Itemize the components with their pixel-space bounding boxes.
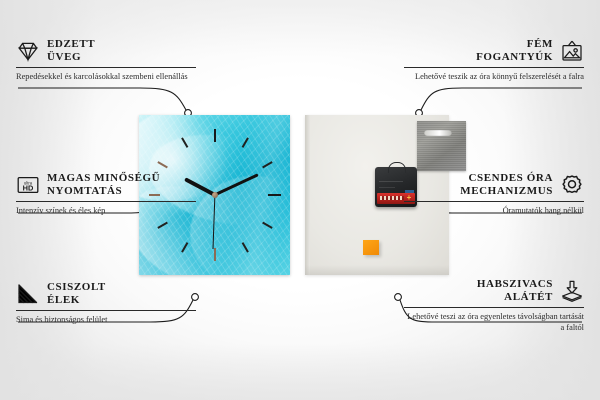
sanded-edges-icon [16,282,40,306]
ultra-hd-icon: ultra HD [16,173,40,197]
callout-description: Intenzív színek és éles kép [16,206,196,217]
callout-head: HABSZIVACS ALÁTÉT [404,278,584,303]
callout-divider [404,67,584,68]
callout-title-line1: EDZETT [47,38,95,51]
callout-title-line2: ÜVEG [47,51,95,64]
callout-title-line2: FOGANTYÚK [476,51,553,64]
callout-title-line1: CSENDES ÓRA [460,172,553,185]
foam-pad-icon [560,279,584,303]
callout-title-line2: MECHANIZMUS [460,185,553,198]
callout-title-line2: ÉLEK [47,294,106,307]
callout-title: HABSZIVACS ALÁTÉT [477,278,553,303]
mechanism-seam-2 [379,187,395,188]
callout-title: EDZETT ÜVEG [47,38,95,63]
callout-divider [16,201,196,202]
callout-divider [404,201,584,202]
callout-title-line1: FÉM [476,38,553,51]
svg-text:HD: HD [23,183,34,192]
clock-center-cap [212,192,218,198]
product-feature-infographic: + EDZETT ÜVEG Repedésekkel és karcolások… [0,0,600,400]
callout-description: Óramutatók hang nélkül [404,206,584,217]
callout-title: CSISZOLT ÉLEK [47,281,106,306]
callout-csiszolt-elek: CSISZOLT ÉLEK Sima és biztonságos felüle… [16,281,196,326]
mechanism-seam-1 [379,181,403,182]
callout-description: Repedésekkel és karcolásokkal szembeni e… [16,72,196,83]
foam-spacer-pad [363,240,379,255]
callout-divider [16,310,196,311]
callout-title-line2: ALÁTÉT [477,291,553,304]
clock-tick-12 [214,129,216,195]
callout-fem-fogantyuk: FÉM FOGANTYÚK Lehetővé teszik az óra kön… [404,38,584,83]
picture-hanger-icon [560,39,584,63]
callout-csendes-ora-mechanizmus: CSENDES ÓRA MECHANIZMUS Óramutatók hang … [404,172,584,217]
callout-habszivacs-alatet: HABSZIVACS ALÁTÉT Lehetővé teszi az óra … [404,278,584,333]
callout-magas-minosegu-nyomtatas: ultra HD MAGAS MINŐSÉGŰ NYOMTATÁS Intenz… [16,172,196,217]
leader-dot-habszivacs [395,294,402,301]
diamond-icon [16,39,40,63]
gear-icon [560,173,584,197]
callout-title-line1: HABSZIVACS [477,278,553,291]
callout-head: CSENDES ÓRA MECHANIZMUS [404,172,584,197]
leader-edzett [18,88,186,110]
callout-head: ultra HD MAGAS MINŐSÉGŰ NYOMTATÁS [16,172,196,197]
leader-fogantyuk [421,88,582,110]
callout-title-line2: NYOMTATÁS [47,185,160,198]
callout-edzett-uveg: EDZETT ÜVEG Repedésekkel és karcolásokka… [16,38,196,83]
hanger-texture [417,121,466,171]
callout-head: FÉM FOGANTYÚK [404,38,584,63]
metal-hanger-plate [417,121,466,171]
callout-title-line1: MAGAS MINŐSÉGŰ [47,172,160,185]
callout-description: Sima és biztonságos felület [16,315,196,326]
callout-head: CSISZOLT ÉLEK [16,281,196,306]
callout-title: FÉM FOGANTYÚK [476,38,553,63]
clock-back-shadow [305,265,449,275]
callout-divider [404,307,584,308]
callout-title: CSENDES ÓRA MECHANIZMUS [460,172,553,197]
clock-tick-3 [215,194,281,196]
callout-title-line1: CSISZOLT [47,281,106,294]
callout-head: EDZETT ÜVEG [16,38,196,63]
clock-back-edge [305,115,310,275]
callout-description: Lehetővé teszik az óra könnyű felszerelé… [404,72,584,83]
callout-divider [16,67,196,68]
callout-description: Lehetővé teszi az óra egyenletes távolsá… [404,312,584,333]
callout-title: MAGAS MINŐSÉGŰ NYOMTATÁS [47,172,160,197]
